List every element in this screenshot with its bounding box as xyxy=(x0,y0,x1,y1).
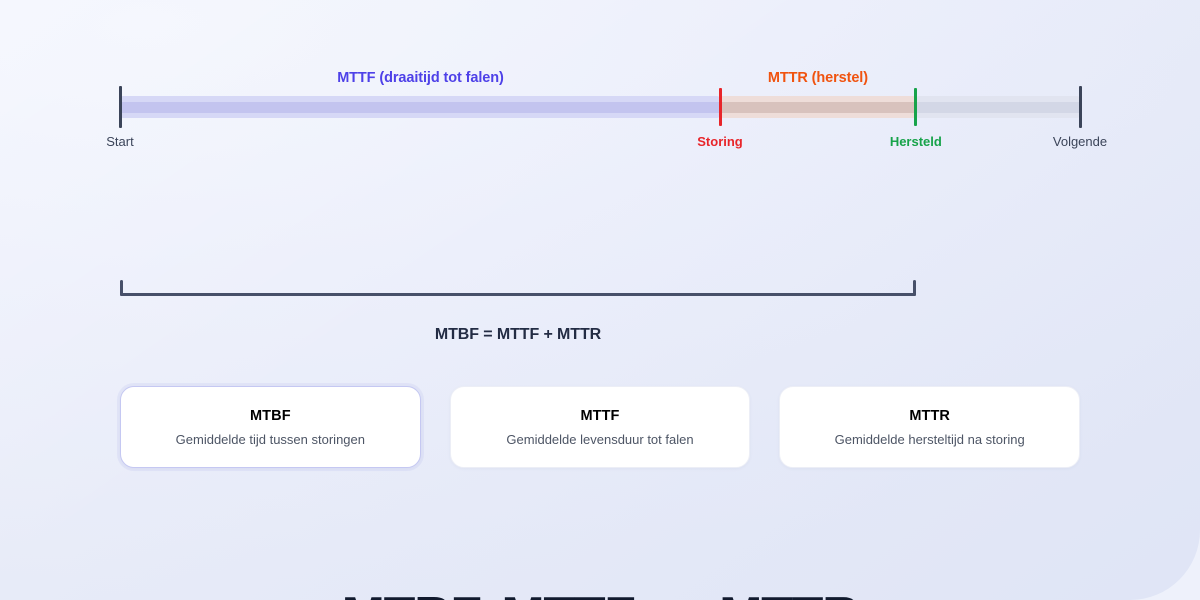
timeline-segment-label-mttr: MTTR (herstel) xyxy=(768,70,868,86)
timeline-point-label-volgende: Volgende xyxy=(1053,134,1107,149)
timeline-band-idle-inner xyxy=(916,102,1080,113)
definition-card-mttr[interactable]: MTTR Gemiddelde hersteltijd na storing xyxy=(779,386,1080,468)
bracket-bar xyxy=(120,293,916,296)
mtbf-bracket xyxy=(120,278,916,296)
timeline-band-mttr-inner xyxy=(720,102,916,113)
definition-card-mtbf[interactable]: MTBF Gemiddelde tijd tussen storingen xyxy=(120,386,421,468)
timeline-point-label-start: Start xyxy=(106,134,133,149)
timeline-point-label-hersteld: Hersteld xyxy=(890,134,942,149)
definition-card-title: MTBF xyxy=(250,408,291,424)
definition-card-title: MTTR xyxy=(909,408,950,424)
timeline-segment-label-mttf: MTTF (draaitijd tot falen) xyxy=(337,70,504,86)
infographic-canvas: MTTF (draaitijd tot falen) MTTR (herstel… xyxy=(0,0,1200,600)
timeline-marker-hersteld xyxy=(914,88,917,126)
definition-card-mttf[interactable]: MTTF Gemiddelde levensduur tot falen xyxy=(450,386,751,468)
timeline-marker-volgende xyxy=(1079,86,1082,128)
definition-card-subtitle: Gemiddelde levensduur tot falen xyxy=(506,432,693,447)
bracket-right-leg xyxy=(913,280,916,296)
definition-card-subtitle: Gemiddelde tijd tussen storingen xyxy=(176,432,365,447)
hero: MTBF, MTTF en MTTR Onderhoudskengetallen… xyxy=(0,586,1200,600)
definition-cards: MTBF Gemiddelde tijd tussen storingen MT… xyxy=(120,386,1080,468)
page-title: MTBF, MTTF en MTTR xyxy=(0,586,1200,600)
timeline-band-mttf-inner xyxy=(120,102,720,113)
timeline-marker-storing xyxy=(719,88,722,126)
timeline: MTTF (draaitijd tot falen) MTTR (herstel… xyxy=(120,70,1080,180)
mtbf-formula: MTBF = MTTF + MTTR xyxy=(120,326,916,344)
timeline-marker-start xyxy=(119,86,122,128)
definition-card-subtitle: Gemiddelde hersteltijd na storing xyxy=(835,432,1025,447)
timeline-point-label-storing: Storing xyxy=(697,134,743,149)
definition-card-title: MTTF xyxy=(580,408,619,424)
